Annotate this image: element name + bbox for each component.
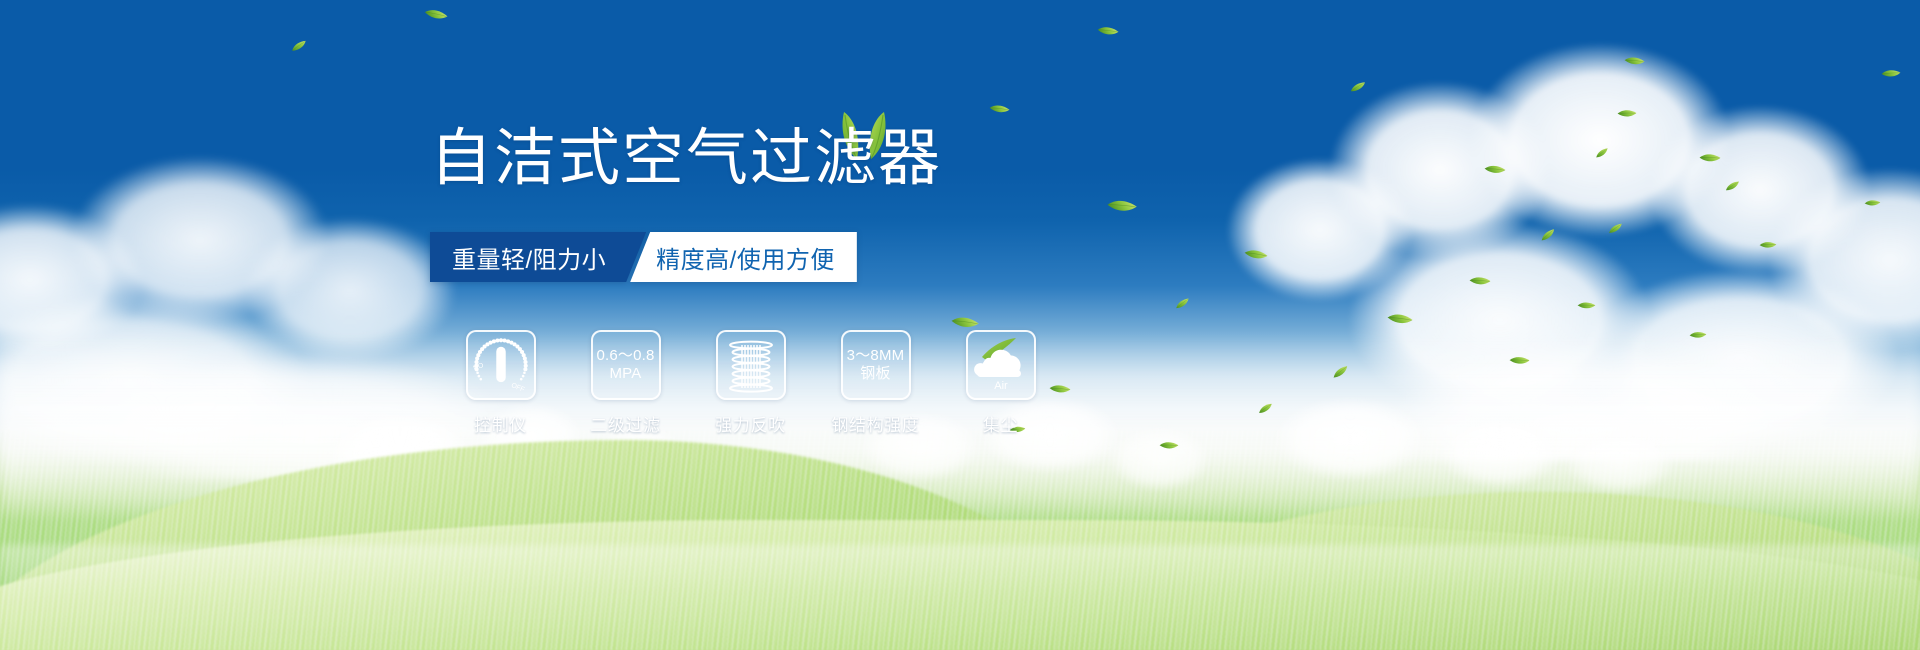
feature-item-3[interactable]: 强力反吹: [688, 330, 813, 436]
feature-list: NO OFF 控制仪0.6〜0.8 MPA二级过滤强力反吹3〜8MM 钢板钢结构…: [438, 330, 1063, 436]
feature-box-text: 3〜8MM 钢板: [847, 347, 905, 384]
feature-label: 钢结构强度: [832, 411, 920, 436]
svg-text:OFF: OFF: [510, 382, 525, 394]
svg-text:Air: Air: [994, 380, 1008, 392]
feature-label: 集尘: [983, 411, 1018, 436]
subtitle-tag-left: 重量轻/阻力小: [430, 232, 646, 282]
cloud-air-icon: Air: [966, 330, 1036, 400]
feature-label: 二级过滤: [590, 411, 660, 436]
product-banner: 自洁式空气过滤器 重量轻/阻力小 精度高/使用方便 NO OFF 控制仪0.6〜…: [0, 0, 1920, 650]
gauge-dial-icon: NO OFF: [466, 330, 536, 400]
feature-label: 强力反吹: [715, 411, 785, 436]
feature-item-5[interactable]: Air 集尘: [938, 330, 1063, 436]
page-title: 自洁式空气过滤器: [430, 128, 942, 190]
subtitle-tag-right: 精度高/使用方便: [630, 232, 857, 282]
banner-content: 自洁式空气过滤器 重量轻/阻力小 精度高/使用方便 NO OFF 控制仪0.6〜…: [0, 0, 1920, 650]
feature-label: 控制仪: [474, 411, 527, 436]
feature-item-1[interactable]: NO OFF 控制仪: [438, 330, 563, 436]
feature-box-text: 0.6〜0.8 MPA: [596, 347, 654, 384]
feature-item-4[interactable]: 3〜8MM 钢板钢结构强度: [813, 330, 938, 436]
filter-cartridge-icon: [716, 330, 786, 400]
feature-item-2[interactable]: 0.6〜0.8 MPA二级过滤: [563, 330, 688, 436]
subtitle-badge: 重量轻/阻力小 精度高/使用方便: [430, 232, 857, 282]
steel-plate-value-icon: 3〜8MM 钢板: [841, 330, 911, 400]
svg-text:NO: NO: [472, 362, 484, 372]
pressure-value-icon: 0.6〜0.8 MPA: [591, 330, 661, 400]
